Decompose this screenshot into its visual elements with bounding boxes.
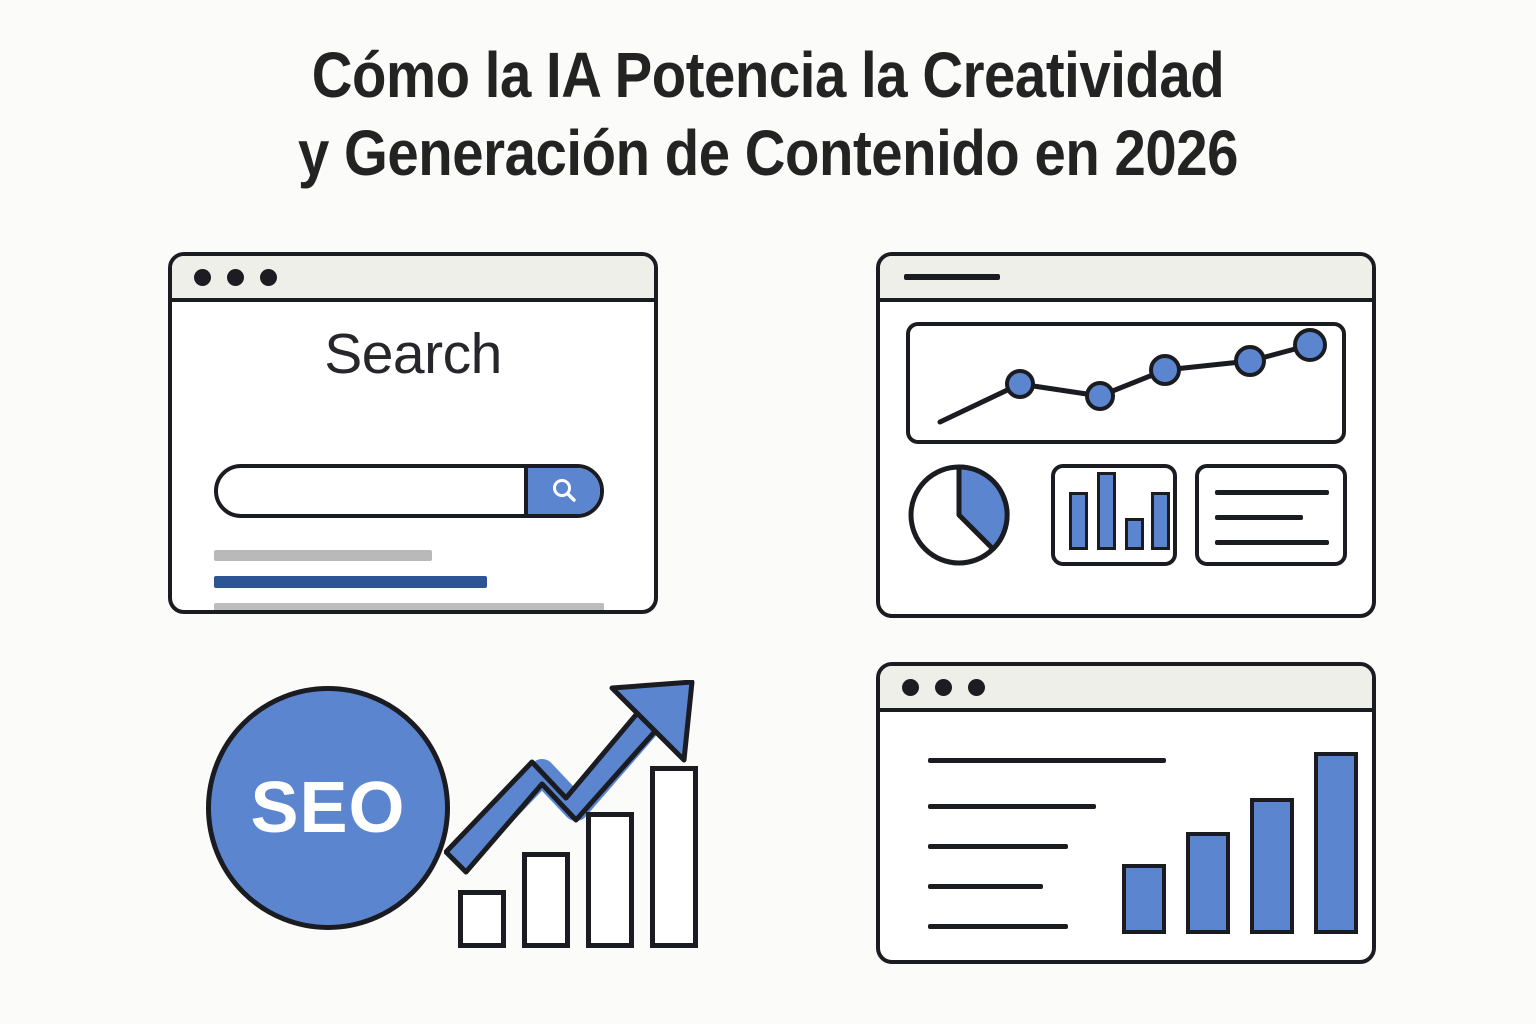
report-bar-4 — [1314, 752, 1358, 934]
search-result-line-3 — [214, 603, 604, 612]
search-result-line-1 — [214, 550, 432, 561]
seo-growth-illustration: SEO — [196, 668, 696, 968]
page-title-line-2: y Generación de Contenido en 2026 — [92, 114, 1444, 192]
seo-badge-label: SEO — [250, 772, 405, 844]
growth-bar-3 — [586, 812, 634, 948]
report-browser-window[interactable] — [876, 662, 1376, 964]
address-bar-line-icon — [904, 274, 1000, 280]
report-text-line-1 — [928, 758, 1166, 763]
search-heading: Search — [172, 324, 654, 384]
magnifier-icon — [547, 474, 581, 508]
dashboard-window-titlebar — [880, 256, 1372, 302]
growth-bar-1 — [458, 890, 506, 948]
page-title-line-1: Cómo la IA Potencia la Creatividad — [92, 36, 1444, 114]
panel-text-line-1 — [1215, 490, 1329, 495]
report-bar-3 — [1250, 798, 1294, 934]
report-text-line-3 — [928, 844, 1068, 849]
mini-bar-4 — [1151, 492, 1170, 550]
report-window-body — [880, 712, 1372, 960]
report-window-titlebar — [880, 666, 1372, 712]
search-window-body: Search — [172, 302, 654, 610]
report-text-line-4 — [928, 884, 1043, 889]
pie-chart-icon — [906, 462, 1012, 568]
window-dot-minimize-icon[interactable] — [227, 269, 244, 286]
panel-text-line-3 — [1215, 540, 1329, 545]
report-text-line-2 — [928, 804, 1096, 809]
window-dot-minimize-icon[interactable] — [935, 679, 952, 696]
panel-text-line-2 — [1215, 515, 1303, 520]
window-dot-close-icon[interactable] — [194, 269, 211, 286]
text-lines-panel[interactable] — [1195, 464, 1347, 566]
illustration-canvas: Cómo la IA Potencia la Creatividad y Gen… — [0, 0, 1536, 1024]
mini-bar-3 — [1125, 518, 1144, 550]
mini-bar-chart-panel[interactable] — [1051, 464, 1177, 566]
report-bar-2 — [1186, 832, 1230, 934]
growth-bar-2 — [522, 852, 570, 948]
window-dot-close-icon[interactable] — [902, 679, 919, 696]
analytics-dashboard-window[interactable] — [876, 252, 1376, 618]
search-submit-button[interactable] — [524, 468, 600, 514]
report-bar-1 — [1122, 864, 1166, 934]
page-title: Cómo la IA Potencia la Creatividad y Gen… — [0, 36, 1536, 192]
mini-bar-1 — [1069, 492, 1088, 550]
mini-bar-2 — [1097, 472, 1116, 550]
window-dot-maximize-icon[interactable] — [260, 269, 277, 286]
pie-chart[interactable] — [906, 462, 1012, 568]
growth-bar-4 — [650, 766, 698, 948]
seo-badge[interactable]: SEO — [206, 686, 450, 930]
line-chart-panel[interactable] — [906, 322, 1346, 444]
search-result-line-2[interactable] — [214, 576, 487, 588]
line-chart-icon — [910, 326, 1342, 440]
dashboard-window-body — [880, 302, 1372, 614]
report-text-line-5 — [928, 924, 1068, 929]
search-window-titlebar — [172, 256, 654, 302]
window-dot-maximize-icon[interactable] — [968, 679, 985, 696]
search-browser-window[interactable]: Search — [168, 252, 658, 614]
search-input[interactable] — [214, 464, 604, 518]
